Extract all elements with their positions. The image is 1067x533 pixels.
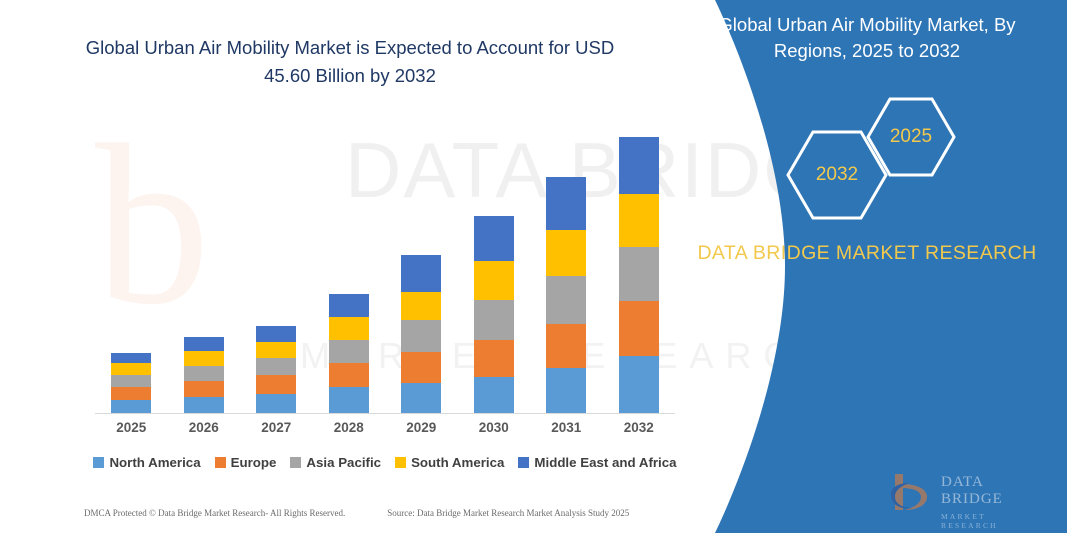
bar-segment xyxy=(401,352,441,383)
x-tick-2027: 2027 xyxy=(240,420,313,435)
bar-segment xyxy=(329,363,369,387)
footer: DMCA Protected © Data Bridge Market Rese… xyxy=(84,508,684,518)
legend-item-middle-east-and-africa[interactable]: Middle East and Africa xyxy=(518,455,676,470)
bar-segment xyxy=(619,194,659,247)
legend-swatch-icon xyxy=(395,457,406,468)
legend-swatch-icon xyxy=(290,457,301,468)
hex-badge-2032: 2032 xyxy=(785,129,889,221)
bar-slot xyxy=(385,121,458,414)
logo-text: DATA BRIDGE MARKET RESEARCH xyxy=(941,474,1045,530)
bar-segment xyxy=(474,300,514,340)
legend-swatch-icon xyxy=(518,457,529,468)
stacked-bar-2030[interactable] xyxy=(474,216,514,414)
logo-line-primary: DATA BRIDGE xyxy=(941,474,1045,508)
bar-segment xyxy=(111,387,151,400)
footer-copyright: DMCA Protected © Data Bridge Market Rese… xyxy=(84,508,345,518)
x-tick-2029: 2029 xyxy=(385,420,458,435)
stacked-bar-2032[interactable] xyxy=(619,137,659,414)
bar-segment xyxy=(329,340,369,363)
bar-slot xyxy=(458,121,531,414)
legend-label: Middle East and Africa xyxy=(534,455,676,470)
stacked-bar-2029[interactable] xyxy=(401,255,441,414)
bar-segment xyxy=(474,340,514,377)
x-tick-2025: 2025 xyxy=(95,420,168,435)
infographic-page: b DATA BRIDGE MARKET RESEARCH Global Urb… xyxy=(0,0,1067,533)
bar-segment xyxy=(619,137,659,194)
x-axis-tick-labels: 20252026202720282029203020312032 xyxy=(95,420,675,435)
bar-segment xyxy=(184,337,224,351)
brand-logo: DATA BRIDGE MARKET RESEARCH xyxy=(885,470,1045,516)
legend-label: Europe xyxy=(231,455,277,470)
bar-segment xyxy=(401,320,441,352)
bar-segment xyxy=(546,324,586,368)
bar-slot xyxy=(313,121,386,414)
bar-slot xyxy=(168,121,241,414)
bar-segment xyxy=(184,397,224,414)
data-bridge-logo-icon xyxy=(885,470,937,516)
legend-swatch-icon xyxy=(215,457,226,468)
bar-segment xyxy=(111,375,151,387)
bar-segment xyxy=(329,387,369,414)
legend-label: Asia Pacific xyxy=(306,455,381,470)
bar-segment xyxy=(619,356,659,414)
x-tick-2031: 2031 xyxy=(530,420,603,435)
bar-segment xyxy=(546,276,586,324)
bar-segment xyxy=(474,216,514,261)
legend-item-europe[interactable]: Europe xyxy=(215,455,277,470)
hexagon-badges: 2025 2032 xyxy=(757,96,1017,206)
bar-segment xyxy=(111,400,151,414)
bar-segment xyxy=(184,351,224,366)
x-tick-2032: 2032 xyxy=(603,420,676,435)
stacked-bar-2027[interactable] xyxy=(256,326,296,414)
legend-swatch-icon xyxy=(93,457,104,468)
right-side-panel: Global Urban Air Mobility Market, By Reg… xyxy=(667,0,1067,533)
bar-segment xyxy=(474,261,514,300)
bar-segment xyxy=(401,292,441,320)
chart-plot-area xyxy=(95,120,675,414)
hex-badge-2032-label: 2032 xyxy=(785,129,889,221)
legend-item-south-america[interactable]: South America xyxy=(395,455,504,470)
bar-segment xyxy=(111,353,151,363)
page-title: Global Urban Air Mobility Market is Expe… xyxy=(62,34,638,90)
bar-segment xyxy=(184,366,224,381)
stacked-bar-2026[interactable] xyxy=(184,337,224,414)
brand-name: DATA BRIDGE MARKET RESEARCH xyxy=(697,238,1037,268)
stacked-bar-2025[interactable] xyxy=(111,353,151,414)
bar-segment xyxy=(546,177,586,230)
legend-item-asia-pacific[interactable]: Asia Pacific xyxy=(290,455,381,470)
bar-slot xyxy=(95,121,168,414)
bar-slot xyxy=(240,121,313,414)
bar-segment xyxy=(329,317,369,340)
bar-segment xyxy=(256,326,296,342)
bar-segment xyxy=(256,394,296,414)
bar-segment xyxy=(256,342,296,358)
bar-slot xyxy=(603,121,676,414)
bar-series-container xyxy=(95,121,675,414)
x-tick-2028: 2028 xyxy=(313,420,386,435)
bar-segment xyxy=(256,358,296,375)
legend-item-north-america[interactable]: North America xyxy=(93,455,200,470)
axis-baseline xyxy=(95,413,675,414)
chart-legend: North AmericaEuropeAsia PacificSouth Ame… xyxy=(95,455,675,470)
bar-segment xyxy=(256,375,296,394)
bar-slot xyxy=(530,121,603,414)
legend-label: South America xyxy=(411,455,504,470)
bar-segment xyxy=(546,368,586,414)
stacked-bar-2031[interactable] xyxy=(546,177,586,414)
logo-line-secondary: MARKET RESEARCH xyxy=(941,512,1045,530)
bar-segment xyxy=(401,255,441,292)
bar-segment xyxy=(111,363,151,375)
stacked-bar-2028[interactable] xyxy=(329,294,369,414)
x-tick-2026: 2026 xyxy=(168,420,241,435)
panel-content: Global Urban Air Mobility Market, By Reg… xyxy=(667,0,1067,533)
legend-label: North America xyxy=(109,455,200,470)
bar-segment xyxy=(474,377,514,414)
bar-segment xyxy=(184,381,224,397)
bar-segment xyxy=(401,383,441,414)
panel-title: Global Urban Air Mobility Market, By Reg… xyxy=(687,12,1047,64)
bar-segment xyxy=(546,230,586,276)
x-tick-2030: 2030 xyxy=(458,420,531,435)
bar-segment xyxy=(619,247,659,301)
footer-source: Source: Data Bridge Market Research Mark… xyxy=(387,508,629,518)
bar-segment xyxy=(329,294,369,317)
bar-segment xyxy=(619,301,659,356)
